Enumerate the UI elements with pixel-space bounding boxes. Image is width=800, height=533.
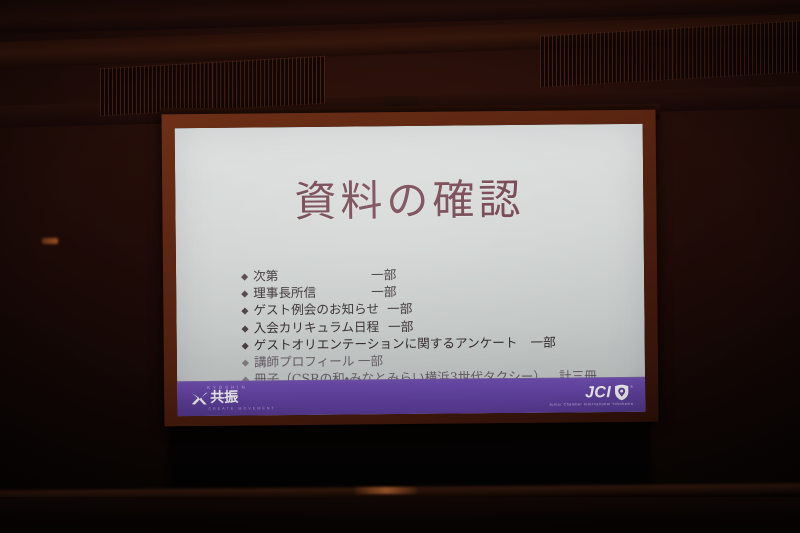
kyoshin-mark-icon [191,391,208,406]
kyoshin-logo-kanji: 共振 [210,391,238,406]
diamond-bullet-icon [242,360,249,367]
bullet-quantity: 一部 [388,318,413,335]
stage-floor [0,497,800,533]
slide-body: 資料の確認 次第 一部 理事長所信 一部 [175,124,645,381]
projection-screen-surface: 資料の確認 次第 一部 理事長所信 一部 [175,124,646,416]
slide-bullet-list: 次第 一部 理事長所信 一部 ゲスト例会のお知らせ 一部 [242,264,629,388]
diamond-bullet-icon [241,274,248,281]
bullet-label: 講師プロフィール [254,353,358,371]
jci-logo: JCI ® Junior Chamber International Yokoh… [549,384,634,409]
wall-accent-light [42,238,58,244]
stage-ledge-highlight [355,487,417,494]
jci-logo-wordmark: JCI [585,385,611,401]
kyoshin-logo-bottom-text: CREATE MOVEMENT [208,407,283,411]
bullet-label: ゲストオリエンテーションに関するアンケート [254,334,518,354]
jci-shield-icon [614,384,629,401]
jci-trademark-symbol: ® [630,384,633,389]
projection-screen-frame: 資料の確認 次第 一部 理事長所信 一部 [162,110,659,427]
bullet-quantity: 一部 [371,283,396,300]
diamond-bullet-icon [241,308,248,315]
presentation-slide: 資料の確認 次第 一部 理事長所信 一部 [175,124,646,416]
jci-logo-subtitle: Junior Chamber International Yokohama [549,402,633,407]
auditorium-scene: 資料の確認 次第 一部 理事長所信 一部 [0,0,800,533]
bullet-label: 次第 [253,266,371,284]
bullet-quantity: 一部 [530,333,555,350]
diamond-bullet-icon [241,291,248,298]
bullet-label: ゲスト例会のお知らせ [253,301,379,319]
kyoshin-logo: KYOSHIN 共振 CREATE MOVEMENT [191,385,283,413]
bullet-quantity: 一部 [371,266,396,283]
bullet-label: 理事長所信 [253,284,371,302]
slide-footer-bar: KYOSHIN 共振 CREATE MOVEMENT JCI [177,377,645,416]
bullet-quantity: 一部 [387,300,412,317]
bullet-quantity: 一部 [358,352,383,369]
bullet-label: 入会カリキュラム日程 [253,318,379,336]
diamond-bullet-icon [242,325,249,332]
stage-shadow [168,420,650,490]
diamond-bullet-icon [242,342,249,349]
slide-title: 資料の確認 [175,178,643,224]
